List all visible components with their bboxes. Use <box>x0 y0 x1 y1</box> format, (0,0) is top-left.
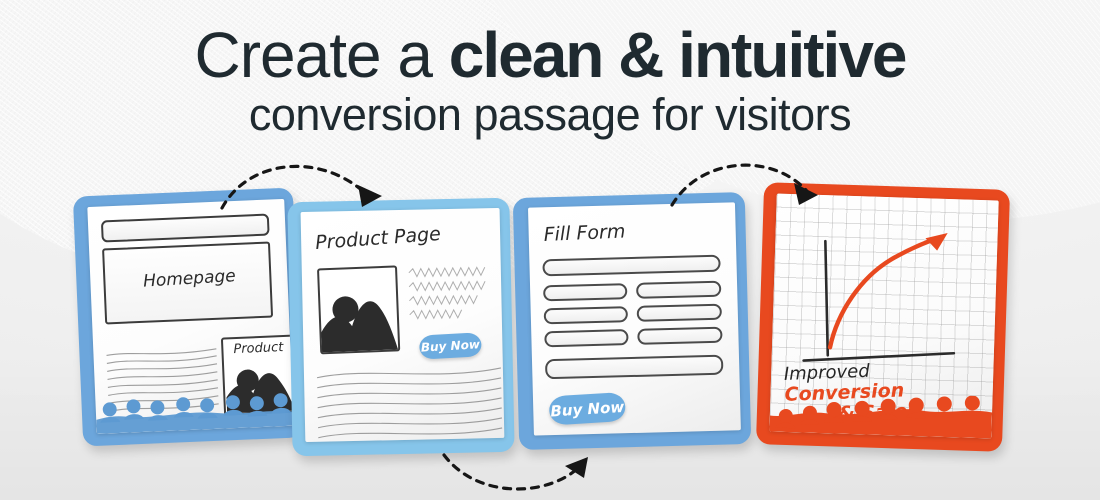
audience-people-silhouettes-conversion <box>769 390 992 439</box>
card-paper-improved-conversion: Improved Conversion & Sales <box>769 194 998 439</box>
buy-now-button-fill-form[interactable]: Buy Now <box>548 392 626 426</box>
form-field-left-1[interactable] <box>543 283 627 301</box>
form-field-full-1[interactable] <box>542 255 720 277</box>
card-paper-fill-form: Fill Form Buy Now <box>528 202 741 435</box>
form-field-left-3[interactable] <box>544 329 628 347</box>
image-placeholder-icon <box>320 283 398 352</box>
form-field-full-2[interactable] <box>545 355 723 380</box>
form-field-left-2[interactable] <box>544 306 628 324</box>
step-card-fill-form[interactable]: Fill Form Buy Now <box>513 192 752 450</box>
step-card-improved-conversion[interactable]: Improved Conversion & Sales <box>756 182 1010 452</box>
headline-bold-text: clean & intuitive <box>449 19 906 91</box>
step-card-homepage[interactable]: Homepage Product <box>73 188 303 447</box>
form-field-right-3[interactable] <box>637 327 722 345</box>
wireframe-navbar <box>101 214 270 243</box>
headline-thin-text: Create a <box>194 19 448 91</box>
step-card-product-page[interactable]: Product Page Buy Now <box>287 198 514 457</box>
wireframe-paragraph-lines <box>316 366 504 442</box>
card-title-fill-form: Fill Form <box>543 220 626 246</box>
card-paper-product-page: Product Page Buy Now <box>301 208 505 442</box>
card-thumb-label-product: Product <box>223 340 294 358</box>
form-field-right-2[interactable] <box>637 304 722 322</box>
wireframe-zigzag-text <box>408 266 497 324</box>
infographic-canvas: Create a clean & intuitive conversion pa… <box>0 0 1100 500</box>
form-field-right-1[interactable] <box>636 281 721 299</box>
headline-block: Create a clean & intuitive conversion pa… <box>0 24 1100 140</box>
buy-now-button-product-page[interactable]: Buy Now <box>419 332 482 359</box>
card-paper-homepage: Homepage Product <box>87 199 293 434</box>
headline-line-2: conversion passage for visitors <box>0 90 1100 140</box>
card-title-product-page: Product Page <box>315 223 442 254</box>
headline-line-1: Create a clean & intuitive <box>0 24 1100 86</box>
